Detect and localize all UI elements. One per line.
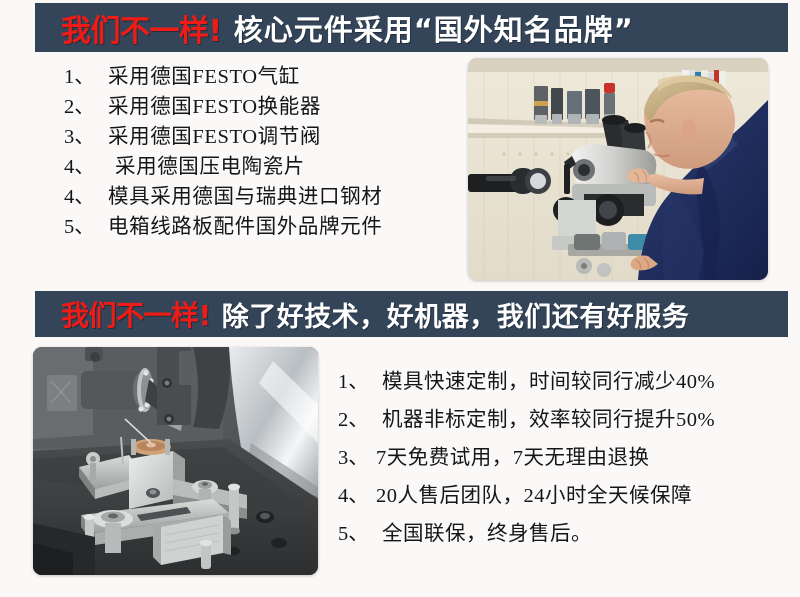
list-item: 4、 20人售后团队，24小时全天候保障 (338, 477, 794, 515)
features-banner: 我们不一样! 核心元件采用“国外知名品牌” (35, 3, 788, 52)
list-item: 1、 采用德国FESTO气缸 (44, 62, 454, 92)
machine-fixture-illustration (33, 347, 318, 575)
list-item-text: 采用德国FESTO调节阀 (108, 122, 321, 152)
machine-fixture-photo (33, 347, 318, 575)
list-item-text: 采用德国压电陶瓷片 (108, 152, 305, 182)
service-banner-title: 除了好技术，好机器，我们还有好服务 (222, 295, 690, 334)
list-item: 3、 采用德国FESTO调节阀 (44, 122, 454, 152)
list-item: 2、 采用德国FESTO换能器 (44, 92, 454, 122)
list-item-text: 7天免费试用，7天无理由退换 (376, 439, 650, 477)
list-item-text: 20人售后团队，24小时全天候保障 (376, 477, 692, 515)
list-item-number: 1、 (338, 363, 376, 401)
list-item-number: 5、 (338, 515, 376, 553)
service-banner-highlight: 我们不一样! (61, 294, 211, 334)
service-banner: 我们不一样! 除了好技术，好机器，我们还有好服务 (35, 291, 788, 337)
list-item: 1、 模具快速定制，时间较同行减少40% (338, 363, 794, 401)
list-item-text: 模具采用德国与瑞典进口钢材 (108, 182, 382, 212)
list-item-number: 2、 (338, 401, 376, 439)
list-item-text: 模具快速定制，时间较同行减少40% (376, 363, 715, 401)
list-item: 5、 全国联保，终身售后。 (338, 515, 794, 553)
list-item: 5、 电箱线路板配件国外品牌元件 (44, 212, 454, 242)
promo-page: 我们不一样! 核心元件采用“国外知名品牌” 1、 采用德国FESTO气缸 2、 … (0, 0, 800, 597)
list-item: 4、 模具采用德国与瑞典进口钢材 (44, 182, 454, 212)
list-item: 4、 采用德国压电陶瓷片 (44, 152, 454, 182)
list-item: 2、 机器非标定制，效率较同行提升50% (338, 401, 794, 439)
microscope-inspection-photo (468, 58, 768, 280)
list-item-text: 全国联保，终身售后。 (376, 515, 592, 553)
list-item: 3、 7天免费试用，7天无理由退换 (338, 439, 794, 477)
list-item-number: 1、 (44, 62, 108, 92)
list-item-text: 机器非标定制，效率较同行提升50% (376, 401, 715, 439)
features-list: 1、 采用德国FESTO气缸 2、 采用德国FESTO换能器 3、 采用德国FE… (44, 62, 454, 242)
features-banner-title: 核心元件采用“国外知名品牌” (234, 7, 634, 49)
list-item-text: 采用德国FESTO换能器 (108, 92, 321, 122)
list-item-text: 电箱线路板配件国外品牌元件 (108, 212, 382, 242)
microscope-scene-illustration (468, 58, 768, 280)
list-item-number: 4、 (338, 477, 376, 515)
list-item-number: 3、 (338, 439, 376, 477)
features-banner-highlight: 我们不一样! (61, 6, 222, 50)
list-item-number: 2、 (44, 92, 108, 122)
list-item-number: 4、 (44, 152, 108, 182)
list-item-number: 5、 (44, 212, 108, 242)
list-item-number: 4、 (44, 182, 108, 212)
service-list: 1、 模具快速定制，时间较同行减少40% 2、 机器非标定制，效率较同行提升50… (338, 363, 794, 553)
list-item-text: 采用德国FESTO气缸 (108, 62, 300, 92)
list-item-number: 3、 (44, 122, 108, 152)
